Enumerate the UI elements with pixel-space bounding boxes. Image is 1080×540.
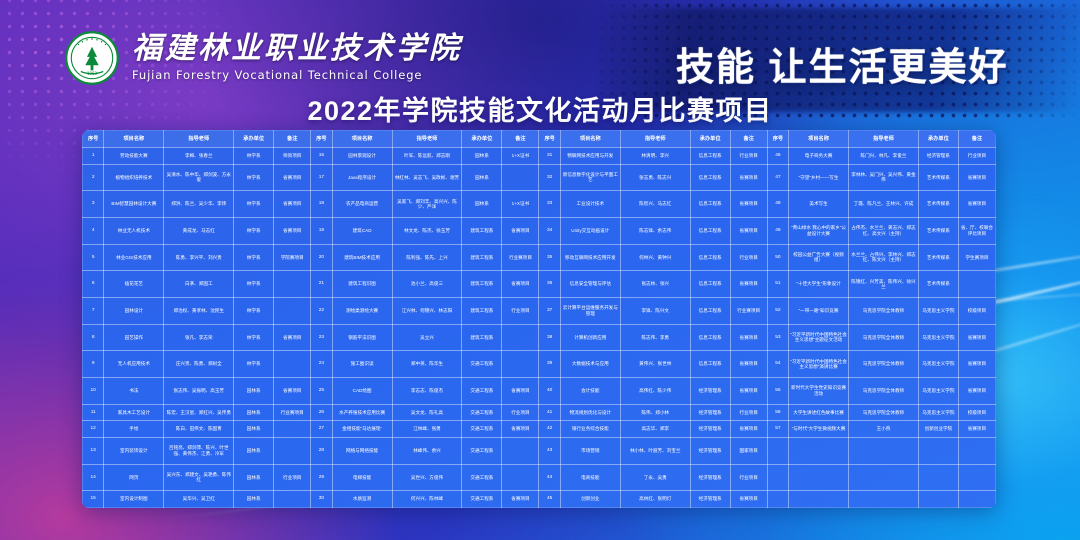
cell-teacher: 陈伟、郑小林 bbox=[620, 404, 690, 421]
cell-teacher: 王小燕 bbox=[849, 421, 919, 438]
cell-remark: 省赛项目 bbox=[730, 271, 767, 298]
cell-num: 38 bbox=[539, 324, 560, 351]
cell-proj: 大数据技术与应用 bbox=[560, 351, 620, 378]
cell-unit: 信息工程系 bbox=[690, 271, 730, 298]
cell-proj: 测绘类测绘大赛 bbox=[332, 297, 392, 324]
cell-num: 34 bbox=[539, 217, 560, 244]
cell-proj: 电梯技能 bbox=[332, 464, 392, 491]
cell-teacher: 马克思学院全体教师 bbox=[849, 404, 919, 421]
poster-header: 1953 福建林业职业技术学院 Fujian Forestry Vocation… bbox=[0, 0, 1080, 120]
cell-num: 6 bbox=[83, 271, 104, 298]
cell-num: 48 bbox=[767, 191, 788, 218]
cell-unit: 创新创业学院 bbox=[918, 421, 958, 438]
cell-proj: 工业设计技术 bbox=[560, 191, 620, 218]
cell-teacher: 白茅、郑国工 bbox=[164, 271, 234, 298]
cell-unit: 马克思主义学院 bbox=[918, 378, 958, 405]
cell-teacher: 丁永、吴勇 bbox=[620, 464, 690, 491]
cell-remark bbox=[958, 437, 995, 464]
cell-proj: “青山绿水 我心中的家乡”公益设计大赛 bbox=[789, 217, 849, 244]
cell-remark: 行业项目 bbox=[502, 297, 539, 324]
column-header-project: 项目名称 bbox=[104, 131, 164, 148]
cell-num: 3 bbox=[83, 191, 104, 218]
column-header-project: 项目名称 bbox=[560, 131, 620, 148]
cell-remark bbox=[502, 437, 539, 464]
cell-remark bbox=[958, 271, 995, 298]
cell-proj: 电商技能 bbox=[560, 464, 620, 491]
cell-teacher: 高伟红、陈少伟 bbox=[620, 378, 690, 405]
cell-unit: 交通工程系 bbox=[462, 404, 502, 421]
cell-remark: 师资项目 bbox=[274, 148, 311, 165]
cell-unit: 林学系 bbox=[234, 164, 274, 191]
cell-num: 12 bbox=[83, 421, 104, 438]
cell-num: 57 bbox=[767, 421, 788, 438]
column-header-remark: 备注 bbox=[274, 131, 311, 148]
cell-proj: 植物组织培养技术 bbox=[104, 164, 164, 191]
cell-proj: 新信息数字化设计与平面工艺 bbox=[560, 164, 620, 191]
cell-num: 46 bbox=[767, 148, 788, 165]
cell-num bbox=[767, 437, 788, 464]
column-header-teacher: 指导老师 bbox=[164, 131, 234, 148]
cell-teacher: 江兴林、何锦兴、林志阳 bbox=[392, 297, 462, 324]
cell-unit: 园林系 bbox=[234, 421, 274, 438]
cell-remark: 省赛项目 bbox=[502, 271, 539, 298]
cell-unit: 经济管理系 bbox=[690, 404, 730, 421]
cell-unit: 信息工程系 bbox=[690, 148, 730, 165]
table-row: 1劳动技能大赛李梅、张春兰林学系师资项目16园林景观设计叶军、陈远航、郑志刚园林… bbox=[83, 148, 996, 165]
column-header-project: 项目名称 bbox=[789, 131, 849, 148]
cell-unit: 交通工程系 bbox=[462, 378, 502, 405]
cell-unit: 艺术传媒系 bbox=[918, 271, 958, 298]
cell-proj: Java程序设计 bbox=[332, 164, 392, 191]
cell-proj: 劳动技能大赛 bbox=[104, 148, 164, 165]
cell-remark: 省赛项目 bbox=[274, 191, 311, 218]
cell-teacher: 陈锦红、兴芳美、陈伟兴、徐兴兰 bbox=[849, 271, 919, 298]
cell-proj: 大学生讲述红色故事比赛 bbox=[789, 404, 849, 421]
column-header-teacher: 指导老师 bbox=[392, 131, 462, 148]
cell-num: 29 bbox=[311, 464, 332, 491]
cell-num: 13 bbox=[83, 437, 104, 464]
cell-proj: 校园公益广告大赛（视频组） bbox=[789, 244, 849, 271]
cell-remark: 省赛项目 bbox=[730, 378, 767, 405]
cell-teacher: 黄伟兴、张世林 bbox=[620, 351, 690, 378]
cell-num: 41 bbox=[539, 404, 560, 421]
cell-proj: 水质监测 bbox=[332, 491, 392, 508]
cell-proj: 网页 bbox=[104, 464, 164, 491]
cell-proj: 建筑BIM技术应用 bbox=[332, 244, 392, 271]
cell-remark bbox=[502, 324, 539, 351]
cell-unit: 林学系 bbox=[234, 297, 274, 324]
cell-num: 43 bbox=[539, 437, 560, 464]
cell-teacher: 吴世兴、方俊伟 bbox=[392, 464, 462, 491]
column-header-remark: 备注 bbox=[730, 131, 767, 148]
cell-remark: 行业项目 bbox=[730, 404, 767, 421]
cell-num bbox=[767, 464, 788, 491]
cell-remark bbox=[274, 491, 311, 508]
cell-remark: 校级项目 bbox=[958, 297, 995, 324]
cell-unit bbox=[918, 491, 958, 508]
cell-proj: 建筑工程识图 bbox=[332, 271, 392, 298]
cell-num: 25 bbox=[311, 378, 332, 405]
cell-num: 7 bbox=[83, 297, 104, 324]
cell-teacher: 马克思学院全体教师 bbox=[849, 351, 919, 378]
cell-proj: 钢筋平法识图 bbox=[332, 324, 392, 351]
cell-num: 2 bbox=[83, 164, 104, 191]
cell-teacher: 陈志锋、余志伟 bbox=[620, 217, 690, 244]
cell-num: 28 bbox=[311, 437, 332, 464]
cell-proj: 物联网技术应用与开发 bbox=[560, 148, 620, 165]
cell-num: 27 bbox=[311, 421, 332, 438]
table-row: 15室内设计制图吴华兴、吴卫红园林系30水质监测何兴兴、陈林峰交通工程系省赛项目… bbox=[83, 491, 996, 508]
cell-teacher bbox=[849, 464, 919, 491]
cell-unit: 交通工程系 bbox=[462, 351, 502, 378]
cell-unit bbox=[918, 437, 958, 464]
cell-remark bbox=[274, 297, 311, 324]
cell-unit: 经济管理系 bbox=[690, 464, 730, 491]
cell-remark: 行业项目 bbox=[958, 148, 995, 165]
cell-num: 33 bbox=[539, 191, 560, 218]
cell-proj: 家具木工艺设计 bbox=[104, 404, 164, 421]
pine-tree-emblem-icon: 1953 bbox=[64, 30, 120, 86]
table-row: 2植物组织培养技术吴清水、陈中华、郑剑波、方永俊林学系省赛项目17Java程序设… bbox=[83, 164, 996, 191]
cell-teacher: 张志林、张兴 bbox=[620, 271, 690, 298]
cell-num: 30 bbox=[311, 491, 332, 508]
table-body: 1劳动技能大赛李梅、张春兰林学系师资项目16园林景观设计叶军、陈远航、郑志刚园林… bbox=[83, 148, 996, 508]
cell-num: 56 bbox=[767, 404, 788, 421]
cell-teacher: 吴华兴、吴卫红 bbox=[164, 491, 234, 508]
cell-proj: Unity交互动画设计 bbox=[560, 217, 620, 244]
cell-teacher: 占伟杰、水兰兰、黄志兴、郑志红、高文兴（主持） bbox=[849, 217, 919, 244]
cell-remark: 省赛项目 bbox=[502, 421, 539, 438]
table-row: 10书法张志伟、吴振明、高玉芳园林系省赛项目25CAD绘图李志志、陈俊杰交通工程… bbox=[83, 378, 996, 405]
table-row: 6插花花艺白茅、郑国工林学系21建筑工程识图池小兰、高俊三建筑工程系省赛项目36… bbox=[83, 271, 996, 298]
cell-num: 11 bbox=[83, 404, 104, 421]
cell-unit: 建筑工程系 bbox=[462, 244, 502, 271]
cell-proj: “一带一路”知识竞赛 bbox=[789, 297, 849, 324]
cell-proj: “十佳大学生”形象设计 bbox=[789, 271, 849, 298]
cell-num: 40 bbox=[539, 378, 560, 405]
cell-proj: 信息安全管理与评估 bbox=[560, 271, 620, 298]
cell-remark: 省赛项目 bbox=[730, 421, 767, 438]
cell-proj: “习近平新时代中国特色社会主义思想”演讲比赛 bbox=[789, 351, 849, 378]
cell-teacher: 庄兴贵、陈勇、郑树全 bbox=[164, 351, 234, 378]
cell-remark: 行业项目 bbox=[502, 404, 539, 421]
column-header-no: 序号 bbox=[83, 131, 104, 148]
cell-remark: 校级项目 bbox=[958, 404, 995, 421]
cell-num: 51 bbox=[767, 271, 788, 298]
cell-proj: 园林景观设计 bbox=[332, 148, 392, 165]
cell-teacher: 吴立兴 bbox=[392, 324, 462, 351]
cell-remark: 行业项目 bbox=[730, 244, 767, 271]
cell-proj: 书法 bbox=[104, 378, 164, 405]
cell-remark bbox=[502, 164, 539, 191]
cell-unit: 园林系 bbox=[462, 191, 502, 218]
column-header-no: 序号 bbox=[311, 131, 332, 148]
column-header-teacher: 指导老师 bbox=[620, 131, 690, 148]
cell-num: 9 bbox=[83, 351, 104, 378]
cell-remark: 省赛项目 bbox=[958, 421, 995, 438]
cell-unit: 林学系 bbox=[234, 217, 274, 244]
cell-proj: 银行业务综合技能 bbox=[560, 421, 620, 438]
cell-teacher: 陈智兴、马志红 bbox=[620, 191, 690, 218]
cell-remark bbox=[958, 491, 995, 508]
college-name-cn: 福建林业职业技术学院 bbox=[132, 34, 462, 64]
cell-remark: 1+X证书 bbox=[502, 148, 539, 165]
cell-unit: 经济管理系 bbox=[690, 421, 730, 438]
cell-num: 5 bbox=[83, 244, 104, 271]
cell-num: 8 bbox=[83, 324, 104, 351]
cell-proj: 室内设计制图 bbox=[104, 491, 164, 508]
cell-unit: 艺术传媒系 bbox=[918, 164, 958, 191]
cell-num: 45 bbox=[539, 491, 560, 508]
cell-proj: 创新创业 bbox=[560, 491, 620, 508]
cell-proj: 云计算平台运维服务开发与管理 bbox=[560, 297, 620, 324]
cell-remark: 省赛项目 bbox=[274, 217, 311, 244]
cell-num: 55 bbox=[767, 378, 788, 405]
cell-teacher bbox=[849, 437, 919, 464]
cell-num: 31 bbox=[539, 148, 560, 165]
cell-num: 18 bbox=[311, 191, 332, 218]
cell-teacher: 李梅、张春兰 bbox=[164, 148, 234, 165]
cell-teacher: 陈勇、李兴平、刘兴贵 bbox=[164, 244, 234, 271]
cell-teacher: 吴家飞、郑刘丰、高兴兴、陈少、严洋 bbox=[392, 191, 462, 218]
table-row: 7园林设计郑治权、黄孝林、沈民生林学系22测绘类测绘大赛江兴林、何锦兴、林志阳建… bbox=[83, 297, 996, 324]
cell-unit: 信息工程系 bbox=[690, 324, 730, 351]
cell-teacher: 陈志伟、李勇 bbox=[620, 324, 690, 351]
cell-teacher: 吕铭亮、郑剑萍、陈兴、叶世强、黄伟杰、江勇、冷军 bbox=[164, 437, 234, 464]
table-row: 11家具木工艺设计陈宏、王汉星、郑红兴、吴传勇园林系行业赛项目26水产养殖技术应… bbox=[83, 404, 996, 421]
cell-proj: 园林设计 bbox=[104, 297, 164, 324]
cell-remark: 省赛项目 bbox=[502, 217, 539, 244]
table-header-row: 序号项目名称指导老师承办单位备注序号项目名称指导老师承办单位备注序号项目名称指导… bbox=[83, 131, 996, 148]
cell-teacher: 何林兴、黄钟兴 bbox=[620, 244, 690, 271]
cell-teacher: 张志伟、吴振明、高玉芳 bbox=[164, 378, 234, 405]
cell-num: 44 bbox=[539, 464, 560, 491]
cell-remark: 省赛项目 bbox=[730, 164, 767, 191]
cell-proj: 网络与网络技能 bbox=[332, 437, 392, 464]
cell-num: 42 bbox=[539, 421, 560, 438]
cell-proj bbox=[789, 491, 849, 508]
cell-teacher: 吴清水、陈中华、郑剑波、方永俊 bbox=[164, 164, 234, 191]
cell-unit: 信息工程系 bbox=[690, 244, 730, 271]
cell-proj: 插花花艺 bbox=[104, 271, 164, 298]
column-header-unit: 承办单位 bbox=[918, 131, 958, 148]
cell-unit: 交通工程系 bbox=[462, 421, 502, 438]
cell-teacher: 黄成龙、马志红 bbox=[164, 217, 234, 244]
cell-unit: 林学系 bbox=[234, 324, 274, 351]
cell-unit: 林学系 bbox=[234, 351, 274, 378]
cell-proj: 美术写生 bbox=[789, 191, 849, 218]
cell-remark: 省赛项目 bbox=[958, 191, 995, 218]
cell-unit: 林学系 bbox=[234, 191, 274, 218]
cell-teacher: 池小兰、高俊三 bbox=[392, 271, 462, 298]
cell-remark bbox=[502, 351, 539, 378]
cell-proj: 施工图识读 bbox=[332, 351, 392, 378]
cell-proj: “与时代”大学生微视频大赛 bbox=[789, 421, 849, 438]
cell-num: 49 bbox=[767, 217, 788, 244]
poster-canvas: 1953 福建林业职业技术学院 Fujian Forestry Vocation… bbox=[0, 0, 1080, 540]
cell-proj: 无人机应用技术 bbox=[104, 351, 164, 378]
cell-unit bbox=[918, 464, 958, 491]
cell-num: 39 bbox=[539, 351, 560, 378]
column-header-teacher: 指导老师 bbox=[849, 131, 919, 148]
cell-proj: CAD绘图 bbox=[332, 378, 392, 405]
table-row: 4林业无人机技术黄成龙、马志红林学系省赛项目19建筑CAD林文龙、陈杰、徐玉芳建… bbox=[83, 217, 996, 244]
cell-remark bbox=[274, 421, 311, 438]
cell-teacher: 吴文龙、陈礼高 bbox=[392, 404, 462, 421]
cell-teacher: 马克思学院全体教师 bbox=[849, 324, 919, 351]
cell-remark: 行业项目 bbox=[730, 464, 767, 491]
cell-remark: 行业赛项目 bbox=[730, 297, 767, 324]
cell-remark: 学生赛项目 bbox=[958, 244, 995, 271]
cell-proj: 物流规划优化与设计 bbox=[560, 404, 620, 421]
cell-proj: 计算机创新应用 bbox=[560, 324, 620, 351]
cell-teacher: 高林红、张明灯 bbox=[620, 491, 690, 508]
cell-unit: 园林系 bbox=[234, 491, 274, 508]
column-header-no: 序号 bbox=[767, 131, 788, 148]
cell-teacher: 郑洪、陈兰、吴少华、李炜 bbox=[164, 191, 234, 218]
cell-unit: 艺术传媒系 bbox=[918, 191, 958, 218]
cell-teacher: 李锋、陈兴文 bbox=[620, 297, 690, 324]
cell-unit: 园林系 bbox=[234, 404, 274, 421]
cell-remark: 省赛项目 bbox=[502, 491, 539, 508]
cell-remark: 1+X证书 bbox=[502, 191, 539, 218]
cell-unit: 林学系 bbox=[234, 244, 274, 271]
cell-proj bbox=[789, 464, 849, 491]
column-header-project: 项目名称 bbox=[332, 131, 392, 148]
cell-num: 15 bbox=[83, 491, 104, 508]
table-row: 3BIM智慧园林设计大赛郑洪、陈兰、吴少华、李炜林学系省赛项目18农产品电商运营… bbox=[83, 191, 996, 218]
cell-teacher: 张凡、李志荣 bbox=[164, 324, 234, 351]
cell-unit: 建筑工程系 bbox=[462, 217, 502, 244]
cell-teacher: 高志华、郑李 bbox=[620, 421, 690, 438]
cell-proj: 电子商务大赛 bbox=[789, 148, 849, 165]
college-brand: 1953 福建林业职业技术学院 Fujian Forestry Vocation… bbox=[64, 30, 462, 86]
cell-proj: 林业无人机技术 bbox=[104, 217, 164, 244]
cell-proj: 水产养殖技术应用比赛 bbox=[332, 404, 392, 421]
cell-unit: 经济管理系 bbox=[690, 491, 730, 508]
cell-remark bbox=[502, 464, 539, 491]
cell-unit: 马克思主义学院 bbox=[918, 404, 958, 421]
cell-unit: 信息工程系 bbox=[690, 297, 730, 324]
cell-unit: 经济管理系 bbox=[690, 437, 730, 464]
column-header-remark: 备注 bbox=[502, 131, 539, 148]
cell-num: 36 bbox=[539, 271, 560, 298]
cell-num: 16 bbox=[311, 148, 332, 165]
cell-unit: 园林系 bbox=[234, 378, 274, 405]
cell-remark: 省赛项目 bbox=[274, 378, 311, 405]
cell-remark: 省赛项目 bbox=[274, 324, 311, 351]
column-header-no: 序号 bbox=[539, 131, 560, 148]
cell-unit: 经济管理系 bbox=[690, 378, 730, 405]
table-row: 14网页吴兴东、郑建文、吴艳勇、陈伟红园林系行业项目29电梯技能吴世兴、方俊伟交… bbox=[83, 464, 996, 491]
cell-proj: 移动互联网技术应用开发 bbox=[560, 244, 620, 271]
cell-unit: 园林系 bbox=[234, 464, 274, 491]
table-row: 8园艺操作张凡、李志荣林学系省赛项目23钢筋平法识图吴立兴建筑工程系38计算机创… bbox=[83, 324, 996, 351]
cell-unit: 建筑工程系 bbox=[462, 271, 502, 298]
cell-unit: 交通工程系 bbox=[462, 464, 502, 491]
cell-proj: 建筑CAD bbox=[332, 217, 392, 244]
cell-num: 52 bbox=[767, 297, 788, 324]
cell-teacher: 水兰兰、占伟兴、李林兴、郑志红、陈文兴（主持） bbox=[849, 244, 919, 271]
cell-unit: 马克思主义学院 bbox=[918, 324, 958, 351]
cell-remark bbox=[274, 351, 311, 378]
cell-num bbox=[767, 491, 788, 508]
cell-unit: 园林系 bbox=[462, 148, 502, 165]
cell-proj: “守望”乡村——写生 bbox=[789, 164, 849, 191]
cell-remark: 学院赛项目 bbox=[274, 244, 311, 271]
cell-unit: 信息工程系 bbox=[690, 164, 730, 191]
svg-text:1953: 1953 bbox=[87, 71, 97, 76]
cell-remark: 省赛项目 bbox=[730, 324, 767, 351]
column-header-unit: 承办单位 bbox=[462, 131, 502, 148]
cell-unit: 林学系 bbox=[234, 271, 274, 298]
cell-remark: 省赛项目 bbox=[730, 351, 767, 378]
cell-unit: 马克思主义学院 bbox=[918, 297, 958, 324]
cell-teacher: 陈宏、王汉星、郑红兴、吴传勇 bbox=[164, 404, 234, 421]
cell-unit: 艺术传媒系 bbox=[918, 217, 958, 244]
cell-remark bbox=[274, 437, 311, 464]
cell-remark bbox=[958, 464, 995, 491]
competition-table-panel: 序号项目名称指导老师承办单位备注序号项目名称指导老师承办单位备注序号项目名称指导… bbox=[82, 130, 996, 508]
cell-proj: “习近平新时代中国特色社会主义思想”主题征文活动 bbox=[789, 324, 849, 351]
cell-teacher: 马克思学院全体教师 bbox=[849, 378, 919, 405]
cell-num: 1 bbox=[83, 148, 104, 165]
cell-teacher: 李林林、吴门兴、吴兴伟、黄金伟 bbox=[849, 164, 919, 191]
cell-num: 19 bbox=[311, 217, 332, 244]
cell-remark: 行业赛项目 bbox=[274, 404, 311, 421]
cell-teacher: 林小林、叶丽芳、刘宝兰 bbox=[620, 437, 690, 464]
cell-remark: 省赛项目 bbox=[958, 351, 995, 378]
cell-teacher: 吴兴东、郑建文、吴艳勇、陈伟红 bbox=[164, 464, 234, 491]
competition-table: 序号项目名称指导老师承办单位备注序号项目名称指导老师承办单位备注序号项目名称指导… bbox=[82, 130, 996, 508]
cell-teacher: 郑治权、黄孝林、沈民生 bbox=[164, 297, 234, 324]
cell-unit: 信息工程系 bbox=[690, 351, 730, 378]
cell-unit: 经济管理系 bbox=[918, 148, 958, 165]
table-row: 12手绘陈白、田伟文、陈国青园林系27金相技能“马达展现”江林峰、张勇交通工程系… bbox=[83, 421, 996, 438]
page-title: 2022年学院技能文化活动月比赛项目 bbox=[0, 89, 1080, 128]
cell-teacher: 张志勇、陈志兴 bbox=[620, 164, 690, 191]
table-row: 9无人机应用技术庄兴贵、陈勇、郑树全林学系24施工图识读郑中英、陈华生交通工程系… bbox=[83, 351, 996, 378]
cell-unit: 建筑工程系 bbox=[462, 324, 502, 351]
cell-unit: 交通工程系 bbox=[462, 491, 502, 508]
cell-proj bbox=[789, 437, 849, 464]
cell-num: 32 bbox=[539, 164, 560, 191]
cell-num: 53 bbox=[767, 324, 788, 351]
cell-num: 22 bbox=[311, 297, 332, 324]
cell-proj: 室内装饰设计 bbox=[104, 437, 164, 464]
cell-num: 23 bbox=[311, 324, 332, 351]
cell-remark: 省、厅、校联合评比项目 bbox=[958, 217, 995, 244]
cell-unit: 信息工程系 bbox=[690, 191, 730, 218]
cell-proj: 新时代大学生党史知识竞赛活动 bbox=[789, 378, 849, 405]
column-header-unit: 承办单位 bbox=[234, 131, 274, 148]
cell-proj: BIM智慧园林设计大赛 bbox=[104, 191, 164, 218]
cell-proj: 手绘 bbox=[104, 421, 164, 438]
cell-remark: 省赛项目 bbox=[730, 191, 767, 218]
cell-proj: 会计技能 bbox=[560, 378, 620, 405]
cell-unit: 交通工程系 bbox=[462, 437, 502, 464]
table-head: 序号项目名称指导老师承办单位备注序号项目名称指导老师承办单位备注序号项目名称指导… bbox=[83, 131, 996, 148]
table-row: 5林业GIS技术应用陈勇、李兴平、刘兴贵林学系学院赛项目20建筑BIM技术应用陈… bbox=[83, 244, 996, 271]
cell-num: 37 bbox=[539, 297, 560, 324]
cell-teacher: 陈门兴、林凡、李俊兰 bbox=[849, 148, 919, 165]
cell-num: 14 bbox=[83, 464, 104, 491]
cell-remark: 行业项目 bbox=[730, 148, 767, 165]
cell-unit: 马克思主义学院 bbox=[918, 351, 958, 378]
cell-teacher: 丁霞、陈凡兰、王林兴、许成 bbox=[849, 191, 919, 218]
cell-remark: 省赛项目 bbox=[730, 217, 767, 244]
cell-teacher: 林红林、吴志飞、吴政彬、谢芳 bbox=[392, 164, 462, 191]
